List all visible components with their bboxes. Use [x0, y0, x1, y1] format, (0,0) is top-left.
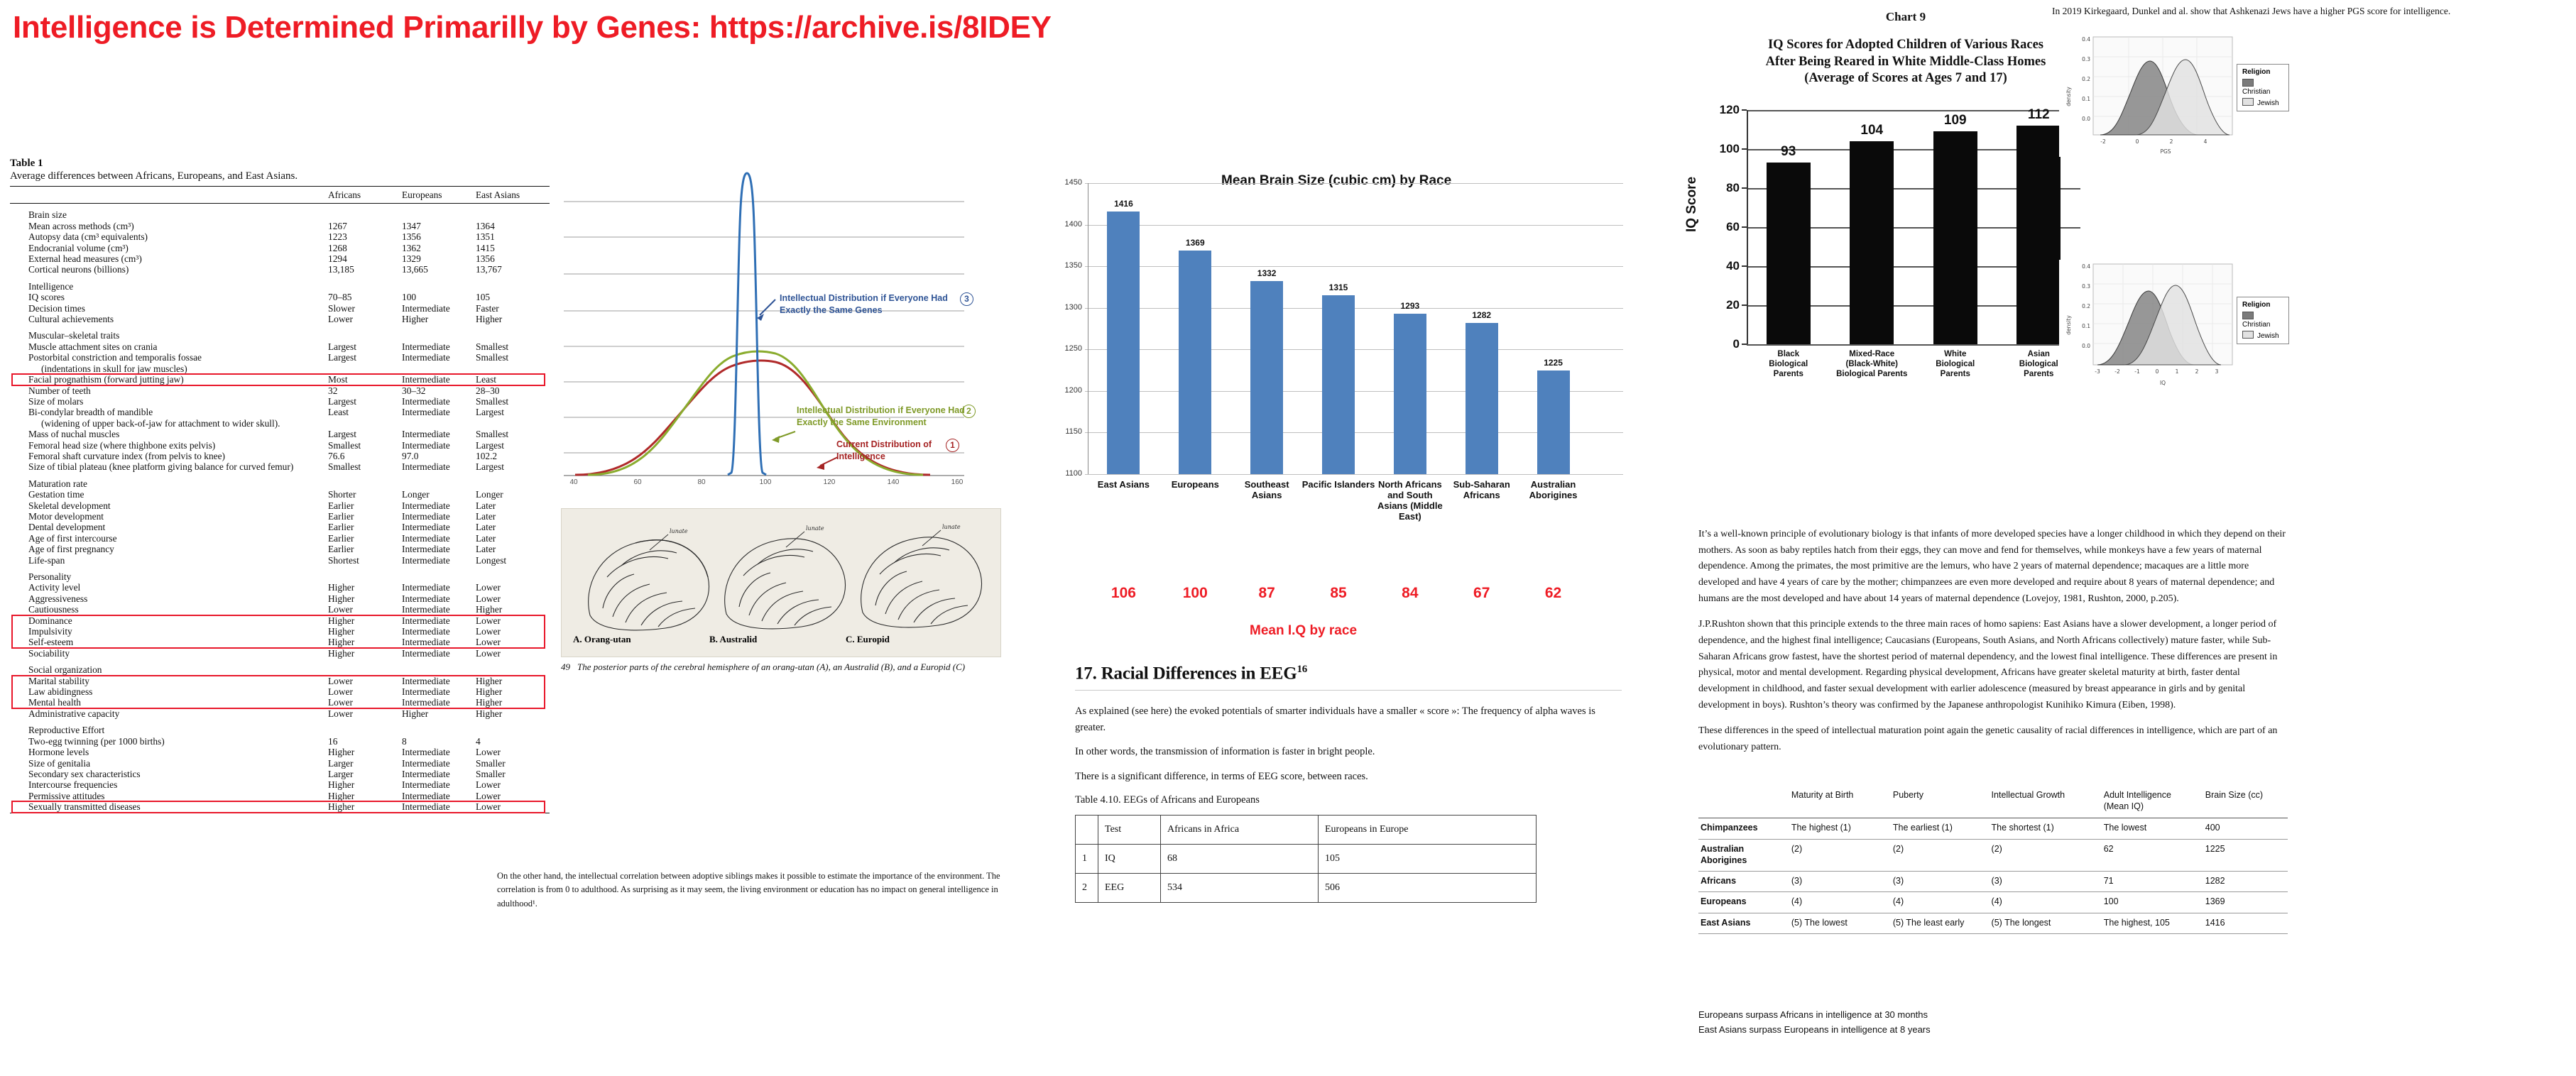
- table1-row-label: Self-esteem: [10, 637, 328, 647]
- svg-text:0.1: 0.1: [2082, 96, 2090, 102]
- maturity-note-1: Europeans surpass Africans in intelligen…: [1698, 1008, 2288, 1023]
- christian-swatch: [2242, 79, 2254, 87]
- dist-xtick-6: 160: [947, 478, 967, 486]
- table1-row-label: Two-egg twinning (per 1000 births): [10, 736, 328, 747]
- jewish-swatch: [2242, 98, 2254, 106]
- table1-row: Intercourse frequenciesHigherIntermediat…: [10, 779, 550, 790]
- table1-row: Activity levelHigherIntermediateLower: [10, 582, 550, 593]
- table1-cell-0: Shortest: [328, 555, 402, 566]
- brainbar-ytick-0: 1450: [1058, 178, 1082, 187]
- maturity-row-name-0: Chimpanzees: [1698, 818, 1789, 839]
- right-paragraph-3: These differences in the speed of intell…: [1698, 723, 2288, 755]
- table1-cell-0: [328, 418, 402, 429]
- table1-cell-0: 32: [328, 385, 402, 396]
- table1-cell-0: 1223: [328, 231, 402, 242]
- table1-cell-0: Lower: [328, 686, 402, 697]
- brain-figure-caption: 49The posterior parts of the cerebral he…: [561, 661, 1015, 673]
- maturity-cell-2-2: (3): [1990, 872, 2102, 892]
- distribution-svg: [554, 160, 1030, 501]
- svg-text:4: 4: [2204, 138, 2207, 145]
- svg-text:0.2: 0.2: [2082, 303, 2090, 309]
- table1-cell-2: Largest: [476, 407, 550, 417]
- table1-section-header: Brain size: [10, 204, 550, 221]
- eeg-heading-text: 17. Racial Differences in EEG: [1075, 664, 1297, 683]
- maturity-cell-1-0: (2): [1789, 839, 1891, 872]
- pgs-legend-item-jewish: Jewish: [2242, 98, 2283, 107]
- table1-cell-1: Intermediate: [402, 582, 476, 593]
- eeg-col-header-2: Africans in Africa: [1161, 816, 1319, 845]
- table1-row: Marital stabilityLowerIntermediateHigher: [10, 676, 550, 686]
- chart9-value-2: 109: [1927, 113, 1984, 128]
- table1-cell-1: Intermediate: [402, 747, 476, 757]
- table1-row-label: Bi-condylar breadth of mandible: [10, 407, 328, 417]
- table1-section-2: Muscular–skeletal traits: [10, 324, 328, 341]
- brainbar-bar-1: [1179, 251, 1211, 474]
- table1-row: Hormone levelsHigherIntermediateLower: [10, 747, 550, 757]
- table1-cell-2: Lower: [476, 615, 550, 626]
- brainbar-bar-4: [1394, 314, 1426, 474]
- chart9-y-axis-label: IQ Score: [1684, 177, 1700, 232]
- table1-row-label: IQ scores: [10, 292, 328, 302]
- maturity-row-name-3: Europeans: [1698, 892, 1789, 913]
- table1-row: Muscle attachment sites on craniaLargest…: [10, 341, 550, 352]
- maturity-cell-0-1: The earliest (1): [1891, 818, 1990, 839]
- iq-legend: Religion Christian Jewish: [2237, 297, 2289, 344]
- maturity-row-name-4: East Asians: [1698, 913, 1789, 933]
- table1-row-label: Dominance: [10, 615, 328, 626]
- table1-cell-2: Lower: [476, 779, 550, 790]
- table1-row: Sexually transmitted diseasesHigherInter…: [10, 801, 550, 813]
- table1-row: Age of first pregnancyEarlierIntermediat…: [10, 544, 550, 554]
- eeg-cell-1-1: EEG: [1098, 874, 1161, 903]
- maturity-cell-1-3: 62: [2102, 839, 2203, 872]
- table1-row-label: Life-span: [10, 555, 328, 566]
- table1-row: Cortical neurons (billions)13,18513,6651…: [10, 264, 550, 275]
- eeg-col-header-1: Test: [1098, 816, 1161, 845]
- table1-row-label: Law abidingness: [10, 686, 328, 697]
- table1-caption-text: Average differences between Africans, Eu…: [10, 170, 550, 182]
- dist-xtick-2: 80: [692, 478, 711, 486]
- brainbar-ytick-1: 1400: [1058, 220, 1082, 229]
- table1-row-label: Aggressiveness: [10, 593, 328, 604]
- eeg-paragraph-1: As explained (see here) the evoked poten…: [1075, 703, 1622, 735]
- table1-section-header: Maturation rate: [10, 473, 550, 489]
- table1-row-label: Facial prognathism (forward jutting jaw): [10, 374, 328, 385]
- table1-cell-1: Intermediate: [402, 511, 476, 522]
- table1-cell-2: Lower: [476, 582, 550, 593]
- svg-text:0.2: 0.2: [2082, 76, 2090, 82]
- table1-row: SociabilityHigherIntermediateLower: [10, 648, 550, 659]
- table1-cell-0: Largest: [328, 352, 402, 363]
- page-title: Intelligence is Determined Primarilly by…: [13, 10, 1433, 45]
- table1-row-label: Femoral shaft curvature index (from pelv…: [10, 451, 328, 461]
- maturity-cell-2-0: (3): [1789, 872, 1891, 892]
- table1-cell-0: Higher: [328, 801, 402, 813]
- table1-row: DominanceHigherIntermediateLower: [10, 615, 550, 626]
- brainbar-gridline-7: [1085, 474, 1623, 475]
- table1-cell-1: Intermediate: [402, 615, 476, 626]
- table1-cell-0: 13,185: [328, 264, 402, 275]
- table1-cell-1: Longer: [402, 489, 476, 500]
- brainbar-ytick-3: 1300: [1058, 303, 1082, 312]
- brainbar-ytick-5: 1200: [1058, 386, 1082, 395]
- table1-section-4: Personality: [10, 566, 328, 582]
- chart9-ytick-4: 40: [1705, 259, 1740, 273]
- table1-cell-0: Lower: [328, 708, 402, 719]
- table1-section-5: Social organization: [10, 659, 328, 675]
- christian-label: Christian: [2242, 88, 2270, 96]
- table1-row: Dental developmentEarlierIntermediateLat…: [10, 522, 550, 532]
- right-paragraph-2: J.P.Rushton shown that this principle ex…: [1698, 617, 2288, 713]
- table1-cell-0: Higher: [328, 791, 402, 801]
- svg-text:0.3: 0.3: [2082, 283, 2090, 290]
- svg-text:lunate: lunate: [942, 524, 961, 530]
- table1-row-label: Size of molars: [10, 396, 328, 407]
- annotation-current-distribution: Current Distribution of Intelligence: [836, 439, 943, 463]
- table1-row-label: Size of tibial plateau (knee platform gi…: [10, 461, 328, 472]
- eeg-col-header-3: Europeans in Europe: [1319, 816, 1537, 845]
- table1-cell-2: Longest: [476, 555, 550, 566]
- chart9-ytick-2: 80: [1705, 181, 1740, 195]
- table1-cell-2: Later: [476, 522, 550, 532]
- kirkegaard-note: In 2019 Kirkegaard, Dunkel and al. show …: [2052, 6, 2570, 17]
- chart9-category-2-line-2: Parents: [1916, 370, 1995, 380]
- eeg-section: 17. Racial Differences in EEG16 As expla…: [1075, 664, 1622, 903]
- brainbar-category-4: North Africans and South Asians (Middle …: [1373, 480, 1447, 522]
- table1-row: Postorbital constriction and temporalis …: [10, 352, 550, 363]
- brainbar-bar-2: [1250, 281, 1283, 474]
- maturity-col-header-1: Maturity at Birth: [1789, 788, 1891, 818]
- table1-cell-0: Shorter: [328, 489, 402, 500]
- maturity-cell-2-3: 71: [2102, 872, 2203, 892]
- brainbar-category-5: Sub-Saharan Africans: [1445, 480, 1519, 501]
- table1-row-label: Age of first intercourse: [10, 533, 328, 544]
- table1-row-label: Cortical neurons (billions): [10, 264, 328, 275]
- chart9-tickmark-5: [1742, 304, 1747, 306]
- table1-cell-0: Earlier: [328, 500, 402, 511]
- dist-xtick-0: 40: [564, 478, 584, 486]
- table1-row: Motor developmentEarlierIntermediateLate…: [10, 511, 550, 522]
- right-paragraph-1: It’s a well-known principle of evolution…: [1698, 527, 2288, 607]
- table1-cell-1: 100: [402, 292, 476, 302]
- table1-cell-1: 13,665: [402, 264, 476, 275]
- table1-cell-0: Lower: [328, 604, 402, 615]
- brainbar-value-0: 1416: [1098, 199, 1149, 209]
- eeg-paragraph-3: There is a significant difference, in te…: [1075, 769, 1622, 784]
- table1-cell-0: Least: [328, 407, 402, 417]
- maturity-cell-3-3: 100: [2102, 892, 2203, 913]
- table1-cell-0: Higher: [328, 648, 402, 659]
- maturity-row: Australian Aborigines(2)(2)(2)621225: [1698, 839, 2288, 872]
- eeg-paragraph-2: In other words, the transmission of info…: [1075, 744, 1622, 759]
- table1-caption-number: Table 1: [10, 158, 550, 170]
- table1-row-label: Cautiousness: [10, 604, 328, 615]
- table1-cell-2: Lower: [476, 626, 550, 637]
- table1-cell-2: 1415: [476, 243, 550, 253]
- jewish-label-2: Jewish: [2257, 332, 2279, 340]
- brainbar-value-5: 1282: [1456, 310, 1507, 320]
- chart9-category-1-line-0: Mixed-Race: [1832, 350, 1911, 360]
- table1-container: Table 1 Average differences between Afri…: [10, 158, 550, 816]
- maturity-cell-1-1: (2): [1891, 839, 1990, 872]
- brain-figure-caption-text: The posterior parts of the cerebral hemi…: [577, 661, 965, 672]
- table1-cell-2: Lower: [476, 801, 550, 813]
- table1-cell-0: 16: [328, 736, 402, 747]
- chart9-y-axis: [1747, 110, 1748, 344]
- maturity-cell-0-4: 400: [2203, 818, 2288, 839]
- table1-row-label: Muscle attachment sites on crania: [10, 341, 328, 352]
- table1-row-label: Permissive attitudes: [10, 791, 328, 801]
- svg-text:0: 0: [2156, 368, 2159, 375]
- table1-section-header: Muscular–skeletal traits: [10, 324, 550, 341]
- table1-row: Mean across methods (cm³)126713471364: [10, 221, 550, 231]
- table1-row-label: Mean across methods (cm³): [10, 221, 328, 231]
- maturity-cell-4-4: 1416: [2203, 913, 2288, 933]
- table1-row-label: Femoral head size (where thighbone exits…: [10, 440, 328, 451]
- maturity-cell-0-0: The highest (1): [1789, 818, 1891, 839]
- eeg-table: TestAfricans in AfricaEuropeans in Europ…: [1075, 815, 1537, 903]
- svg-text:2: 2: [2170, 138, 2173, 145]
- brainbar-bar-6: [1537, 370, 1570, 474]
- table1-cell-1: Intermediate: [402, 593, 476, 604]
- maturity-row-name-2: Africans: [1698, 872, 1789, 892]
- table1-row: Self-esteemHigherIntermediateLower: [10, 637, 550, 647]
- table1-row: Law abidingnessLowerIntermediateHigher: [10, 686, 550, 697]
- table1-cell-2: [476, 363, 550, 374]
- table1-section-header: Social organization: [10, 659, 550, 675]
- table1-cell-1: Intermediate: [402, 779, 476, 790]
- table1-cell-2: Higher: [476, 314, 550, 324]
- dist-xtick-4: 120: [819, 478, 839, 486]
- table1-cell-0: Earlier: [328, 511, 402, 522]
- chart9-tickmark-4: [1742, 265, 1747, 267]
- chart9-category-0: BlackBiologicalParents: [1749, 350, 1828, 379]
- right-body-text: It’s a well-known principle of evolution…: [1698, 527, 2288, 766]
- table1-row-label: Decision times: [10, 303, 328, 314]
- table1-cell-1: Intermediate: [402, 697, 476, 708]
- table1-cell-0: Lower: [328, 314, 402, 324]
- brainbar-bar-5: [1466, 323, 1498, 474]
- svg-text:-1: -1: [2134, 368, 2140, 375]
- eeg-cell-1-0: 2: [1076, 874, 1098, 903]
- table1-row: Secondary sex characteristicsLargerInter…: [10, 769, 550, 779]
- brainbar-category-0: East Asians: [1086, 480, 1160, 490]
- dist-xtick-3: 100: [755, 478, 775, 486]
- brainbar-y-axis: [1088, 183, 1088, 474]
- svg-text:0.3: 0.3: [2082, 56, 2090, 62]
- svg-text:0.1: 0.1: [2082, 323, 2090, 329]
- table1-cell-0: Higher: [328, 615, 402, 626]
- chart9-category-0-line-0: Black: [1749, 350, 1828, 360]
- brainbar-value-2: 1332: [1241, 268, 1292, 278]
- table1-cell-2: [476, 418, 550, 429]
- iq-density-plot: 0.40.3 0.20.1 0.0 -3-2 -10 12 3 IQ densi…: [2059, 260, 2293, 395]
- table1-col-header-1: Europeans: [402, 187, 476, 204]
- table1-row: AggressivenessHigherIntermediateLower: [10, 593, 550, 604]
- table1-cell-2: Faster: [476, 303, 550, 314]
- table1-cell-0: Earlier: [328, 544, 402, 554]
- iq-legend-item-christian: Christian: [2242, 312, 2283, 329]
- table1-cell-2: Smallest: [476, 352, 550, 363]
- chart9-bar-3: [2016, 126, 2061, 344]
- chart9-tickmark-1: [1742, 148, 1747, 150]
- maturity-cell-3-4: 1369: [2203, 892, 2288, 913]
- table1-row: External head measures (cm³)129413291356: [10, 253, 550, 264]
- table1-cell-1: Intermediate: [402, 544, 476, 554]
- eeg-cell-0-3: 105: [1319, 845, 1537, 874]
- table1-row: (widening of upper back-of-jaw for attac…: [10, 418, 550, 429]
- eeg-cell-1-3: 506: [1319, 874, 1537, 903]
- maturity-row: Africans(3)(3)(3)711282: [1698, 872, 2288, 892]
- table1-cell-2: Longer: [476, 489, 550, 500]
- eeg-cell-0-1: IQ: [1098, 845, 1161, 874]
- svg-text:-2: -2: [2114, 368, 2120, 375]
- table1-row: Number of teeth3230–3228–30: [10, 385, 550, 396]
- table1-cell-2: Least: [476, 374, 550, 385]
- pgs-legend-title: Religion: [2242, 68, 2283, 76]
- table1-cell-2: Smaller: [476, 769, 550, 779]
- table1-section-header: Personality: [10, 566, 550, 582]
- eeg-row: 2EEG534506: [1076, 874, 1537, 903]
- brainbar-gridline-0: [1085, 183, 1623, 184]
- table1-row-label: Mass of nuchal muscles: [10, 429, 328, 439]
- annotation-badge-3: 3: [960, 292, 973, 306]
- svg-text:0.4: 0.4: [2082, 36, 2090, 43]
- table1-row-label: Number of teeth: [10, 385, 328, 396]
- brainbar-category-6: Australian Aborigines: [1517, 480, 1590, 501]
- table1-row: Mass of nuchal musclesLargestIntermediat…: [10, 429, 550, 439]
- maturity-row: ChimpanzeesThe highest (1)The earliest (…: [1698, 818, 2288, 839]
- table1-section-1: Intelligence: [10, 275, 328, 292]
- table1-cell-1: Intermediate: [402, 352, 476, 363]
- svg-text:lunate: lunate: [806, 525, 824, 532]
- table1-cell-0: Larger: [328, 758, 402, 769]
- table1-cell-2: Largest: [476, 461, 550, 472]
- table1-row-label: Age of first pregnancy: [10, 544, 328, 554]
- annotation-same-environment: Intellectual Distribution if Everyone Ha…: [797, 405, 966, 429]
- brainbar-value-4: 1293: [1385, 301, 1436, 311]
- table1-cell-0: 1267: [328, 221, 402, 231]
- chart9-bar-2: [1933, 131, 1977, 344]
- annotation-same-genes: Intellectual Distribution if Everyone Ha…: [780, 292, 954, 317]
- table1-cell-2: Smaller: [476, 758, 550, 769]
- table1-cell-1: Intermediate: [402, 396, 476, 407]
- maturity-cell-0-3: The lowest: [2102, 818, 2203, 839]
- table1-cell-2: Later: [476, 500, 550, 511]
- brain-label-c: C. Europid: [846, 634, 890, 645]
- brainbar-iq-5: 67: [1453, 585, 1510, 602]
- table1-row-label: Intercourse frequencies: [10, 779, 328, 790]
- table1-row-label: Marital stability: [10, 676, 328, 686]
- svg-text:3: 3: [2215, 368, 2219, 375]
- chart9-category-1: Mixed-Race(Black-White)Biological Parent…: [1832, 350, 1911, 379]
- maturity-cell-4-3: The highest, 105: [2102, 913, 2203, 933]
- table1-cell-1: Intermediate: [402, 758, 476, 769]
- svg-text:lunate: lunate: [670, 528, 688, 534]
- table1-cell-0: Smallest: [328, 440, 402, 451]
- chart9-tickmark-0: [1742, 109, 1747, 111]
- table1-col-header-0: Africans: [328, 187, 402, 204]
- table1-row: Size of molarsLargestIntermediateSmalles…: [10, 396, 550, 407]
- svg-text:PGS: PGS: [2160, 148, 2171, 155]
- eeg-heading: 17. Racial Differences in EEG16: [1075, 664, 1622, 684]
- table1-bottom-rule: [10, 813, 550, 816]
- table1-row: Decision timesSlowerIntermediateFaster: [10, 303, 550, 314]
- table1-cell-1: Intermediate: [402, 407, 476, 417]
- maturity-cell-2-4: 1282: [2203, 872, 2288, 892]
- chart9-ytick-0: 120: [1705, 103, 1740, 117]
- table1-cell-2: Later: [476, 533, 550, 544]
- svg-text:density: density: [2065, 87, 2072, 106]
- brainbar-iq-2: 87: [1238, 585, 1295, 602]
- table1-cell-2: Higher: [476, 604, 550, 615]
- brainbar-iq-3: 85: [1310, 585, 1367, 602]
- table1-row-label: Gestation time: [10, 489, 328, 500]
- svg-text:0.0: 0.0: [2082, 116, 2090, 122]
- maturity-cell-4-2: (5) The longest: [1990, 913, 2102, 933]
- chart9-bar-1: [1850, 141, 1894, 344]
- eeg-cell-0-0: 1: [1076, 845, 1098, 874]
- table1-row-label: Motor development: [10, 511, 328, 522]
- table1-cell-0: Largest: [328, 429, 402, 439]
- table1-cell-2: Lower: [476, 791, 550, 801]
- table1-cell-1: 30–32: [402, 385, 476, 396]
- svg-text:0.4: 0.4: [2082, 263, 2090, 270]
- maturity-cell-1-4: 1225: [2203, 839, 2288, 872]
- table1-cell-2: Smallest: [476, 396, 550, 407]
- table1-row-label: Cultural achievements: [10, 314, 328, 324]
- table1-cell-1: [402, 363, 476, 374]
- brain-figure-page-number: 49: [561, 661, 570, 672]
- table1-cell-0: Higher: [328, 747, 402, 757]
- table1-cell-1: 1329: [402, 253, 476, 264]
- svg-text:-3: -3: [2095, 368, 2100, 375]
- table1-cell-1: Intermediate: [402, 686, 476, 697]
- table1-cell-2: Smallest: [476, 429, 550, 439]
- table1-cell-0: Larger: [328, 769, 402, 779]
- table1-row: Administrative capacityLowerHigherHigher: [10, 708, 550, 719]
- chart9-category-1-line-1: (Black-White): [1832, 360, 1911, 370]
- maturity-cell-1-2: (2): [1990, 839, 2102, 872]
- chart9-category-2: WhiteBiologicalParents: [1916, 350, 1995, 379]
- maturity-row-name-1: Australian Aborigines: [1698, 839, 1789, 872]
- svg-text:0.0: 0.0: [2082, 343, 2090, 349]
- table1-row-label: (indentations in skull for jaw muscles): [10, 363, 328, 374]
- table1-row: Skeletal developmentEarlierIntermediateL…: [10, 500, 550, 511]
- table1-cell-1: 1356: [402, 231, 476, 242]
- table1-cell-1: Intermediate: [402, 769, 476, 779]
- table1-cell-2: 28–30: [476, 385, 550, 396]
- table1-cell-1: 1362: [402, 243, 476, 253]
- chart9-category-2-line-0: White: [1916, 350, 1995, 360]
- eeg-cell-1-2: 534: [1161, 874, 1319, 903]
- table1-row: Size of tibial plateau (knee platform gi…: [10, 461, 550, 472]
- maturity-row: Europeans(4)(4)(4)1001369: [1698, 892, 2288, 913]
- table1-row-label: Secondary sex characteristics: [10, 769, 328, 779]
- table1-cell-2: Lower: [476, 593, 550, 604]
- brainbar-bar-3: [1322, 295, 1355, 474]
- eeg-header-row: TestAfricans in AfricaEuropeans in Europ…: [1076, 816, 1537, 845]
- table1-cell-2: 1364: [476, 221, 550, 231]
- eeg-divider: [1075, 690, 1622, 691]
- svg-text:0: 0: [2136, 138, 2139, 145]
- brainbar-category-3: Pacific Islanders: [1301, 480, 1375, 490]
- table1-cell-0: Smallest: [328, 461, 402, 472]
- eeg-col-header-0: [1076, 816, 1098, 845]
- table1-cell-1: Intermediate: [402, 500, 476, 511]
- table1-row-label: External head measures (cm³): [10, 253, 328, 264]
- table1-cell-1: Intermediate: [402, 374, 476, 385]
